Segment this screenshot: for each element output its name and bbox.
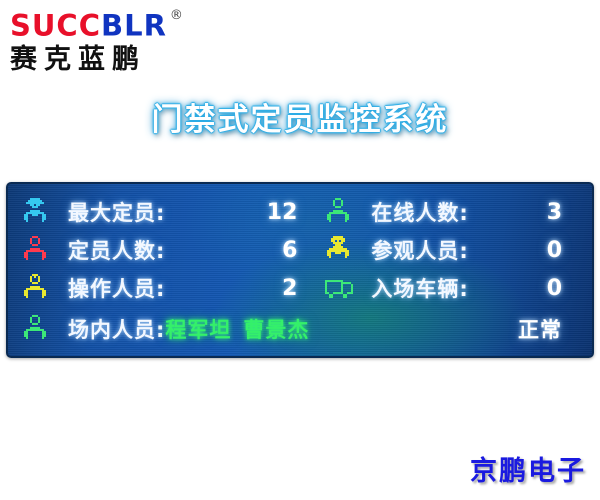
person-icon <box>325 198 359 226</box>
led-row-online-count: 在线人数: 3 <box>319 193 584 231</box>
led-row-operator-count: 操作人员: 2 <box>16 269 319 307</box>
list-item: 曹景杰 <box>243 318 309 342</box>
led-value-operator-count: 2 <box>165 276 313 301</box>
app-root: SUCCBLR® 赛克蓝鹏 门禁式定员监控系统 <box>0 0 600 500</box>
person-icon <box>22 236 56 264</box>
led-value-max-capacity: 12 <box>165 200 313 225</box>
person-icon <box>22 315 56 343</box>
brand-chinese-name: 赛克蓝鹏 <box>10 44 240 76</box>
truck-icon <box>325 276 359 300</box>
led-display-panel: 最大定员: 12 <box>6 182 594 358</box>
led-value-vehicle-count: 0 <box>469 276 578 301</box>
person-helmet-icon <box>22 198 56 226</box>
led-label-staffed-count: 定员人数: <box>68 235 165 265</box>
list-item: 程军坦 <box>165 318 231 342</box>
led-label-onsite-personnel: 场内人员: <box>68 314 165 344</box>
led-row-onsite-personnel: 场内人员: 程军坦曹景杰 <box>16 307 319 351</box>
registered-trademark-icon: ® <box>170 8 184 23</box>
led-data-grid: 最大定员: 12 <box>8 184 592 356</box>
brand-wordmark-blr: BLR <box>101 9 167 43</box>
led-label-max-capacity: 最大定员: <box>68 197 165 227</box>
led-row-vehicle-count: 入场车辆: 0 <box>319 269 584 307</box>
led-value-visitor-count: 0 <box>469 238 578 263</box>
led-row-visitor-count: 参观人员: 0 <box>319 231 584 269</box>
led-label-vehicle-count: 入场车辆: <box>371 273 468 303</box>
brand-wordmark-succ: SUCC <box>10 9 101 43</box>
page-title: 门禁式定员监控系统 <box>0 94 600 139</box>
status-badge: 正常 <box>325 314 578 344</box>
brand-wordmark: SUCCBLR® <box>10 6 240 42</box>
led-row-staffed-count: 定员人数: 6 <box>16 231 319 269</box>
led-value-online-count: 3 <box>469 200 578 225</box>
led-label-online-count: 在线人数: <box>371 197 468 227</box>
led-label-operator-count: 操作人员: <box>68 273 165 303</box>
led-label-visitor-count: 参观人员: <box>371 235 468 265</box>
brand-logo: SUCCBLR® 赛克蓝鹏 <box>10 6 240 76</box>
led-onsite-name-list: 程军坦曹景杰 <box>165 314 313 344</box>
led-value-staffed-count: 6 <box>165 238 313 263</box>
led-row-max-capacity: 最大定员: 12 <box>16 193 319 231</box>
footer-company-name: 京鹏电子 <box>470 449 586 488</box>
person-visitor-icon <box>325 236 359 264</box>
led-row-system-status: 正常 <box>319 307 584 351</box>
person-worker-icon <box>22 274 56 302</box>
